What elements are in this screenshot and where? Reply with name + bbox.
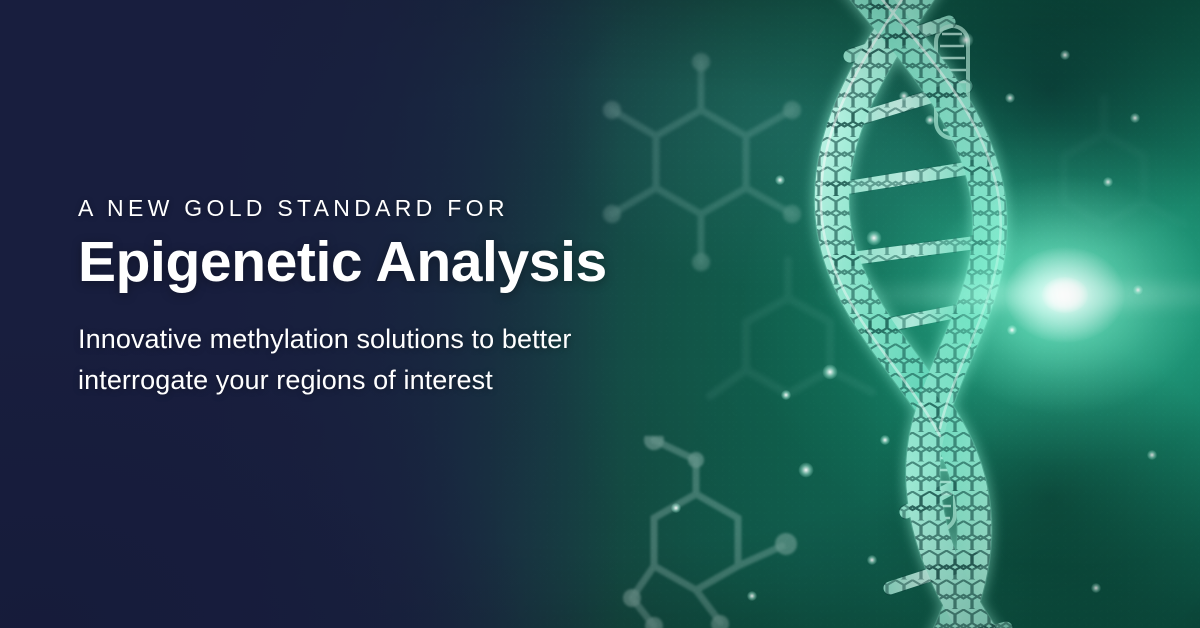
- subheading-line-1: Innovative methylation solutions to bett…: [78, 319, 718, 360]
- eyebrow-text: A NEW GOLD STANDARD FOR: [78, 196, 718, 221]
- page-title: Epigenetic Analysis: [78, 233, 718, 292]
- hero-banner: A NEW GOLD STANDARD FOR Epigenetic Analy…: [0, 0, 1200, 628]
- subheading-line-2: interrogate your regions of interest: [78, 360, 718, 401]
- hero-copy-block: A NEW GOLD STANDARD FOR Epigenetic Analy…: [78, 196, 718, 401]
- subheading: Innovative methylation solutions to bett…: [78, 319, 718, 401]
